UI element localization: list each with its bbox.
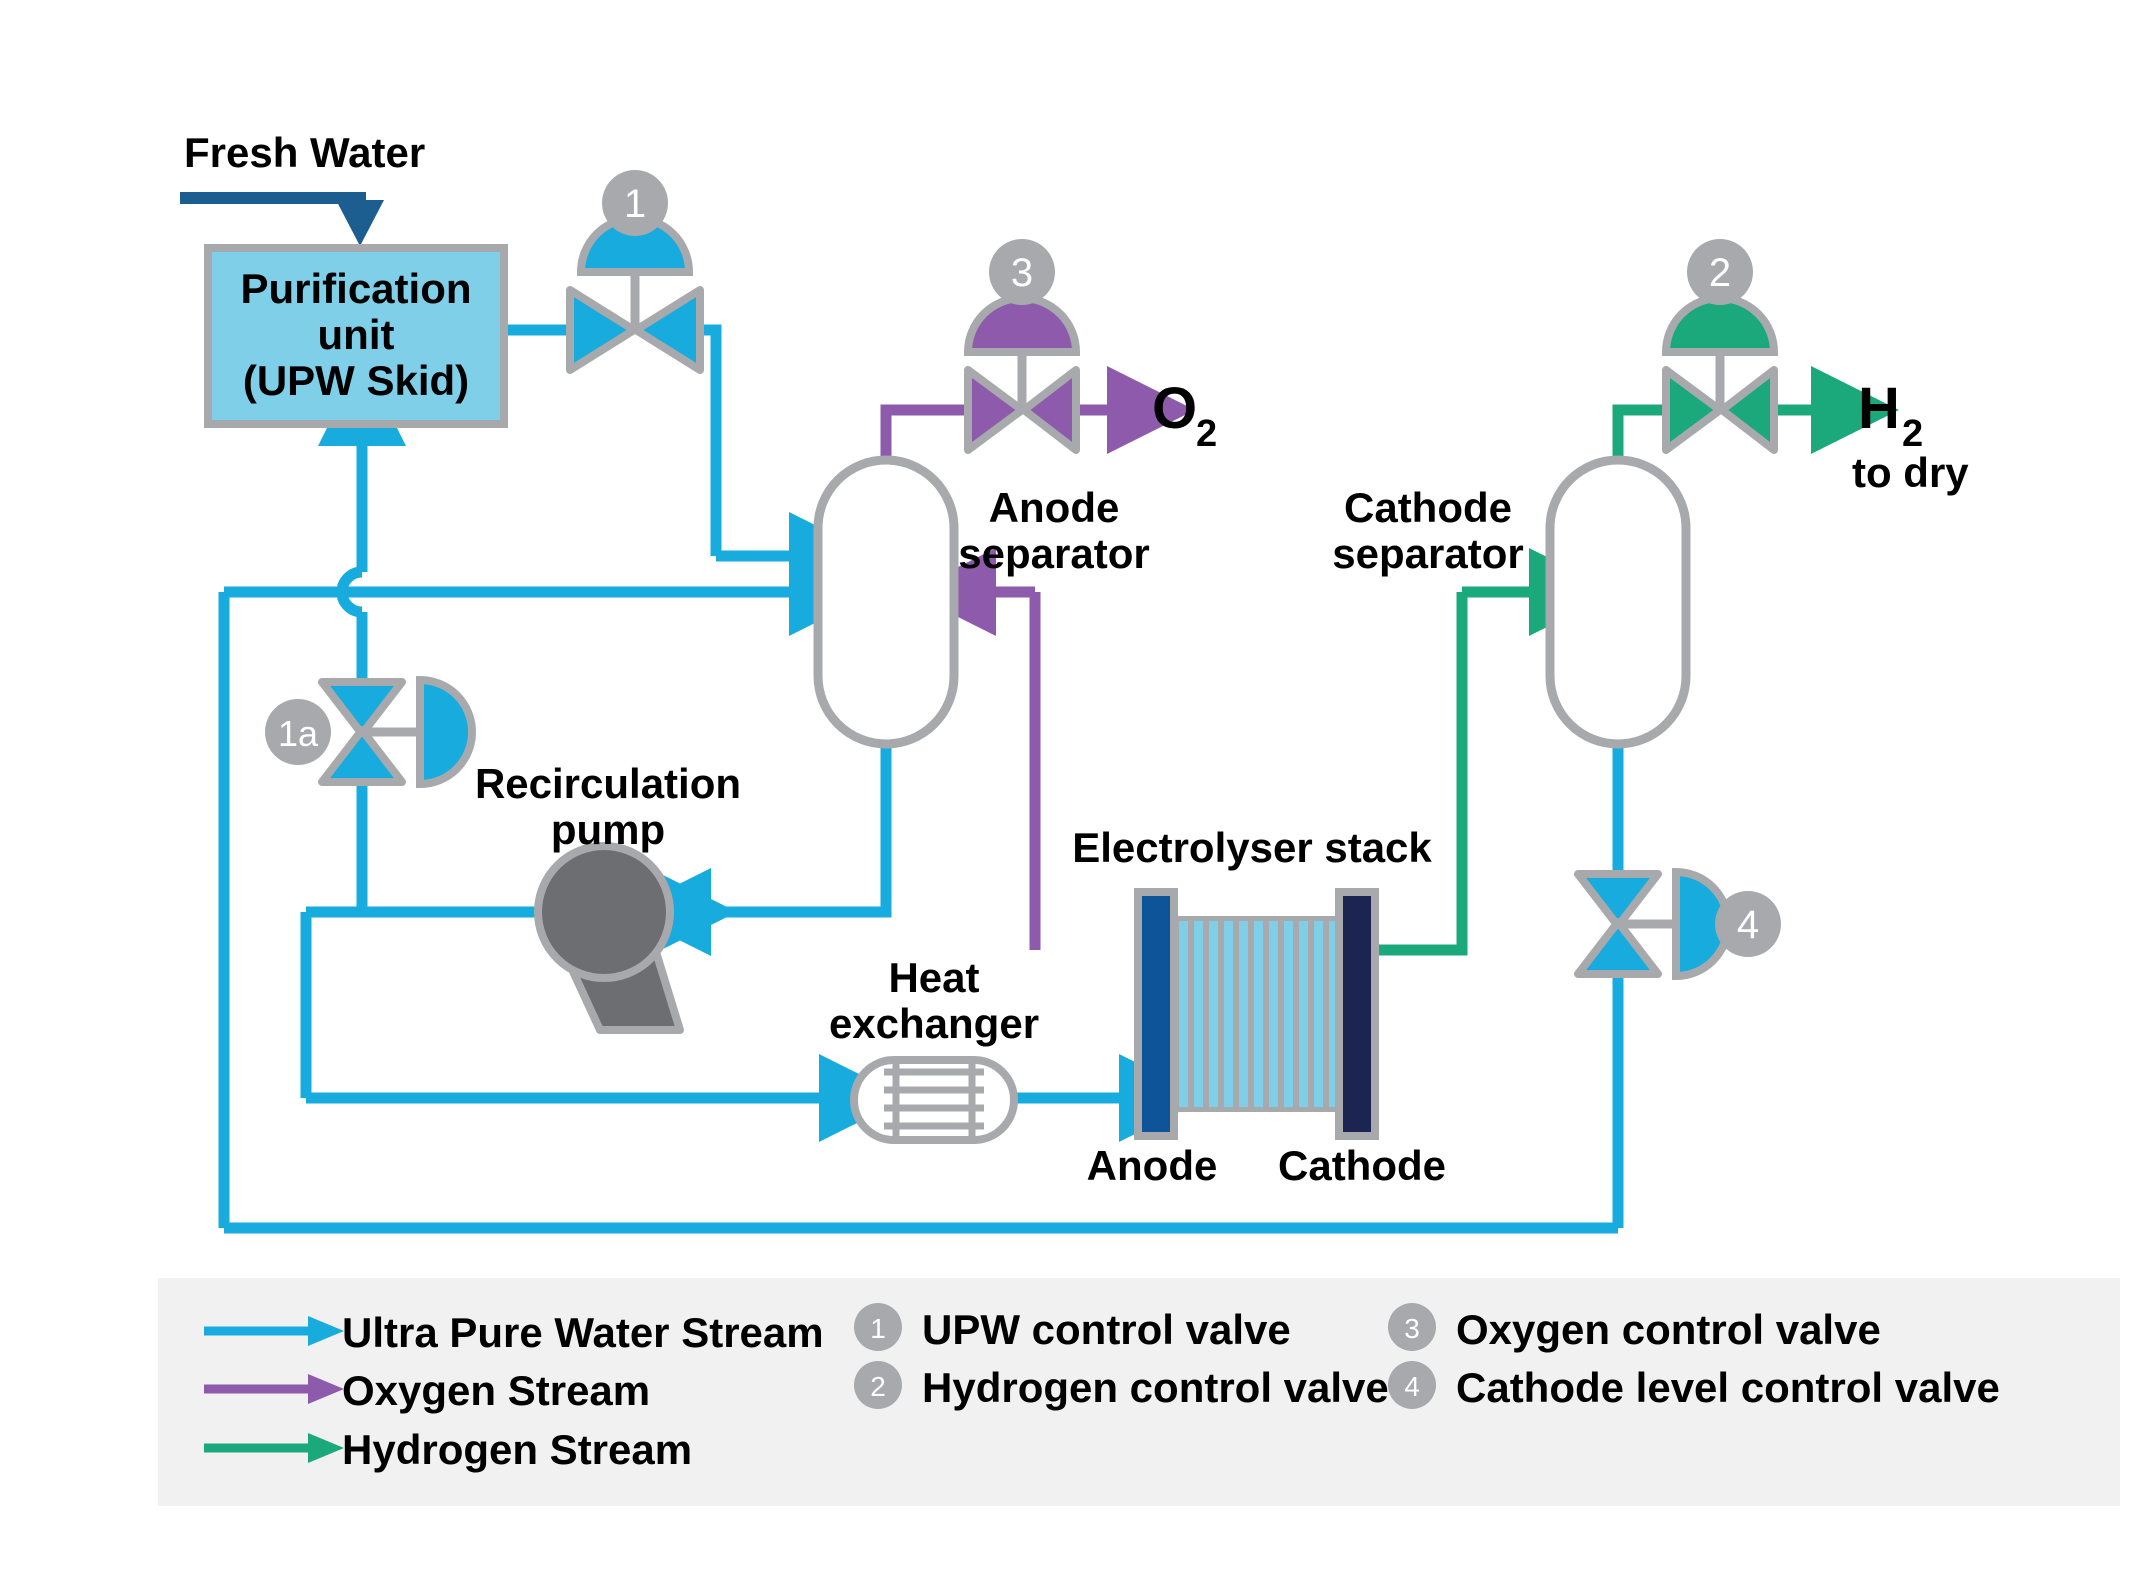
anode-plate	[1138, 892, 1174, 1136]
anode-separator-label-line2: separator	[958, 530, 1149, 577]
recirculation-pump-label-line2: pump	[551, 806, 665, 853]
fresh-water-label: Fresh Water	[184, 129, 425, 176]
legend-valve-4-label: Cathode level control valve	[1456, 1364, 2000, 1411]
cathode-separator-vessel[interactable]	[1550, 460, 1686, 744]
purification-unit-label-line2: unit	[318, 311, 395, 358]
tag-2-label: 2	[1709, 251, 1731, 295]
legend-valve-3: 3 Oxygen control valve	[1388, 1303, 1881, 1353]
cathode-plate	[1339, 892, 1375, 1136]
legend-valve-3-label: Oxygen control valve	[1456, 1306, 1881, 1353]
legend-panel: Ultra Pure Water Stream Oxygen Stream Hy…	[158, 1278, 2120, 1506]
oxygen-outlet-subscript: 2	[1196, 413, 1217, 455]
legend-valve-2-id: 2	[870, 1371, 886, 1402]
tag-1-circle: 1	[602, 170, 668, 236]
legend-valve-3-id: 3	[1404, 1313, 1420, 1344]
legend-valve-2-label: Hydrogen control valve	[922, 1364, 1389, 1411]
legend-valve-4-id: 4	[1404, 1371, 1420, 1402]
cathode-separator-label-line1: Cathode	[1344, 484, 1512, 531]
process-flow-diagram: 1 1a 3 2 4	[0, 0, 2147, 1581]
stack-cells	[1174, 916, 1339, 1112]
tag-1a-circle: 1a	[265, 699, 331, 765]
legend-stream-oxygen-label: Oxygen Stream	[342, 1367, 650, 1414]
tag-3-circle: 3	[989, 239, 1055, 305]
cathode-separator-label-line2: separator	[1332, 530, 1523, 577]
legend-valve-4: 4 Cathode level control valve	[1388, 1361, 2000, 1411]
tag-1-label: 1	[624, 182, 646, 226]
anode-separator-label-line1: Anode	[989, 484, 1120, 531]
purification-unit-label-line3: (UPW Skid)	[243, 357, 469, 404]
hydrogen-outlet-symbol: H	[1858, 376, 1900, 441]
legend-stream-upw-label: Ultra Pure Water Stream	[342, 1309, 824, 1356]
legend-valve-1-id: 1	[870, 1313, 886, 1344]
heat-exchanger-label-line2: exchanger	[829, 1000, 1039, 1047]
anode-label: Anode	[1087, 1142, 1218, 1189]
legend-valve-1-label: UPW control valve	[922, 1306, 1291, 1353]
legend-valve-2: 2 Hydrogen control valve	[854, 1361, 1389, 1411]
anode-separator-vessel[interactable]	[818, 460, 954, 744]
electrolyser-stack-label: Electrolyser stack	[1072, 824, 1432, 871]
tag-1a-label: 1a	[278, 713, 319, 754]
heat-exchanger[interactable]	[854, 1060, 1014, 1140]
tag-4-label: 4	[1737, 903, 1759, 947]
cathode-label: Cathode	[1278, 1142, 1446, 1189]
oxygen-outlet-symbol: O	[1152, 376, 1197, 441]
purification-unit-label-line1: Purification	[240, 265, 471, 312]
heat-exchanger-label-line1: Heat	[888, 954, 979, 1001]
electrolyser-stack[interactable]	[1138, 892, 1375, 1136]
hydrogen-outlet-note: to dry	[1852, 449, 1969, 496]
legend-stream-hydrogen-label: Hydrogen Stream	[342, 1426, 692, 1473]
tag-2-circle: 2	[1687, 239, 1753, 305]
recirculation-pump-label-line1: Recirculation	[475, 760, 741, 807]
tag-3-label: 3	[1011, 251, 1033, 295]
tag-4-circle: 4	[1715, 891, 1781, 957]
